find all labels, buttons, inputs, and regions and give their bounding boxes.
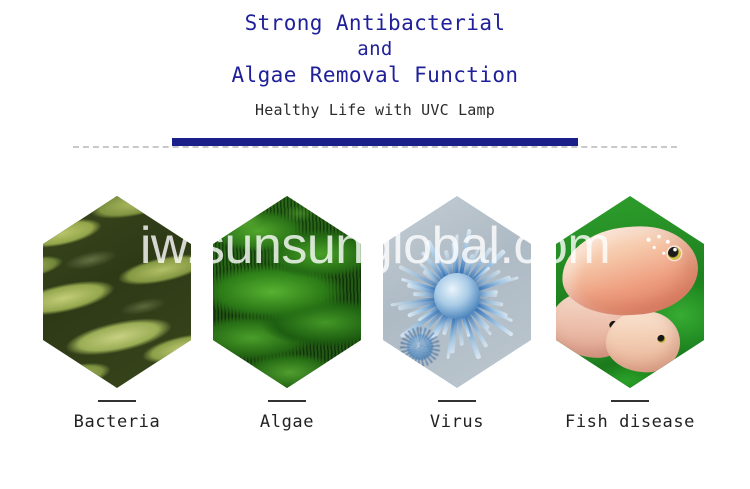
feature-image-row <box>0 196 750 392</box>
label-rule <box>98 400 136 402</box>
subtitle: Healthy Life with UVC Lamp <box>0 100 750 120</box>
fish-disease-image <box>556 196 704 388</box>
title-line-1: Strong Antibacterial <box>0 10 750 37</box>
virus-secondary-particle <box>407 334 433 360</box>
bacteria-image <box>43 196 191 388</box>
label-cell-bacteria: Bacteria <box>32 400 202 433</box>
divider <box>0 138 750 150</box>
title-block: Strong Antibacterial and Algae Removal F… <box>0 0 750 89</box>
virus-image <box>383 196 531 388</box>
feature-label-row: Bacteria Algae Virus Fish disease <box>0 400 750 460</box>
hexagon-frame-bacteria <box>43 196 191 388</box>
feature-cell-bacteria <box>32 196 202 392</box>
feature-label: Algae <box>202 411 372 433</box>
title-line-3: Algae Removal Function <box>0 62 750 89</box>
fish-white-spots <box>643 234 683 260</box>
label-rule <box>268 400 306 402</box>
divider-dashed-line <box>73 146 677 148</box>
virus-core <box>434 273 480 319</box>
feature-label: Bacteria <box>32 411 202 433</box>
hexagon-frame-virus <box>383 196 531 388</box>
label-cell-fish-disease: Fish disease <box>545 400 715 433</box>
title-line-2: and <box>0 37 750 62</box>
hexagon-frame-fish-disease <box>556 196 704 388</box>
label-cell-algae: Algae <box>202 400 372 433</box>
algae-image <box>213 196 361 388</box>
promo-banner: Strong Antibacterial and Algae Removal F… <box>0 0 750 489</box>
feature-cell-virus <box>372 196 542 392</box>
feature-cell-fish-disease <box>545 196 715 392</box>
feature-label: Virus <box>372 411 542 433</box>
feature-cell-algae <box>202 196 372 392</box>
label-rule <box>611 400 649 402</box>
label-cell-virus: Virus <box>372 400 542 433</box>
hexagon-frame-algae <box>213 196 361 388</box>
header: Strong Antibacterial and Algae Removal F… <box>0 0 750 120</box>
feature-label: Fish disease <box>545 411 715 433</box>
label-rule <box>438 400 476 402</box>
divider-accent-bar <box>172 138 578 146</box>
